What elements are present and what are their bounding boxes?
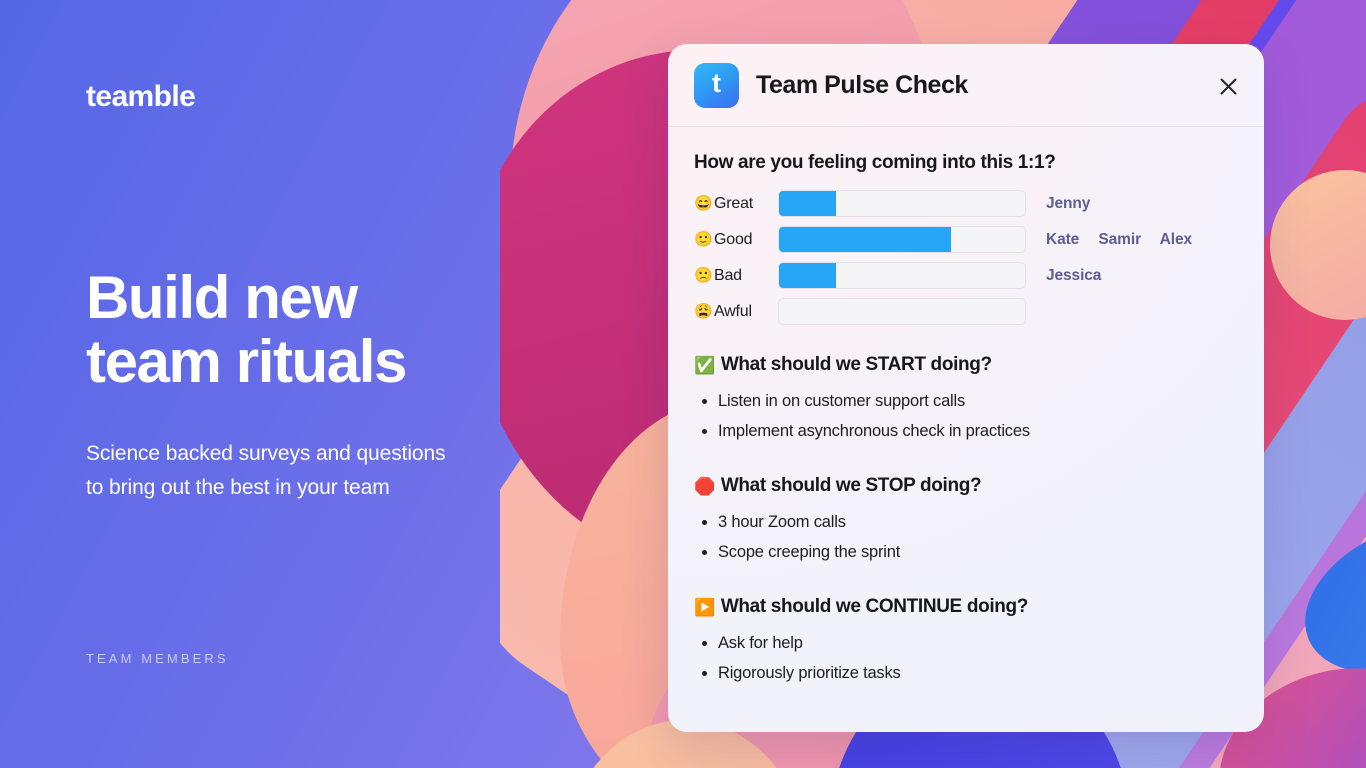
poll-option-label: Awful [714,303,778,321]
section-start: ✅ What should we START doing? Listen in … [694,354,1238,446]
poll-row[interactable]: 🙁 Bad Jessica [694,262,1238,289]
poll-bar-track [778,262,1026,289]
section-list: Listen in on customer support calls Impl… [694,386,1238,446]
page-title: Build new team rituals [86,266,406,394]
poll-voters: Jenny [1046,195,1090,213]
subtitle-line-2: to bring out the best in your team [86,471,445,505]
promo-screen: teamble Build new team rituals Science b… [0,0,1366,768]
list-item: Implement asynchronous check in practice… [694,416,1238,446]
card-body: How are you feeling coming into this 1:1… [668,127,1264,688]
poll-option-label: Bad [714,267,778,285]
section-heading: 🛑 What should we STOP doing? [694,475,1238,497]
poll-row[interactable]: 🙂 Good Kate Samir Alex [694,226,1238,253]
poll-row[interactable]: 😩 Awful [694,298,1238,325]
teamble-app-icon: t [694,63,739,108]
section-heading-text: What should we CONTINUE doing? [721,596,1028,618]
poll-question: How are you feeling coming into this 1:1… [694,152,1238,174]
section-heading-text: What should we START doing? [721,354,992,376]
poll-option-label: Good [714,231,778,249]
slightly-frowning-face-icon: 🙁 [694,268,714,283]
card-title: Team Pulse Check [756,71,968,100]
list-item: 3 hour Zoom calls [694,507,1238,537]
voter-name: Jenny [1046,195,1090,212]
page-subtitle: Science backed surveys and questions to … [86,437,445,505]
poll-bar-track [778,190,1026,217]
section-heading: ▶️ What should we CONTINUE doing? [694,596,1238,618]
team-members-label: TEAM MEMBERS [86,651,229,666]
poll-results: 😄 Great Jenny 🙂 Good [694,190,1238,325]
close-button[interactable] [1215,73,1241,99]
close-icon [1219,77,1238,96]
check-mark-button-icon: ✅ [694,357,715,374]
poll-row[interactable]: 😄 Great Jenny [694,190,1238,217]
subtitle-line-1: Science backed surveys and questions [86,437,445,471]
poll-bar-track [778,298,1026,325]
section-heading: ✅ What should we START doing? [694,354,1238,376]
card-header: t Team Pulse Check [668,44,1264,127]
play-button-icon: ▶️ [694,599,715,616]
poll-voters: Kate Samir Alex [1046,231,1192,249]
grinning-face-with-smiling-eyes-icon: 😄 [694,196,714,211]
team-pulse-check-card: t Team Pulse Check How are you feeling c… [668,44,1264,732]
poll-bar-fill [779,191,836,216]
section-list: 3 hour Zoom calls Scope creeping the spr… [694,507,1238,567]
headline-line-2: team rituals [86,330,406,394]
section-continue: ▶️ What should we CONTINUE doing? Ask fo… [694,596,1238,688]
weary-face-icon: 😩 [694,304,714,319]
voter-name: Alex [1160,231,1192,248]
voter-name: Jessica [1046,267,1101,284]
poll-voters: Jessica [1046,267,1101,285]
headline-line-1: Build new [86,266,406,330]
slightly-smiling-face-icon: 🙂 [694,232,714,247]
list-item: Scope creeping the sprint [694,537,1238,567]
voter-name: Kate [1046,231,1079,248]
poll-bar-fill [779,263,836,288]
list-item: Ask for help [694,628,1238,658]
poll-option-label: Great [714,195,778,213]
section-stop: 🛑 What should we STOP doing? 3 hour Zoom… [694,475,1238,567]
poll-bar-fill [779,227,951,252]
brand-logo: teamble [86,80,195,114]
section-list: Ask for help Rigorously prioritize tasks [694,628,1238,688]
list-item: Listen in on customer support calls [694,386,1238,416]
list-item: Rigorously prioritize tasks [694,658,1238,688]
stop-sign-icon: 🛑 [694,478,715,495]
section-heading-text: What should we STOP doing? [721,475,981,497]
poll-bar-track [778,226,1026,253]
voter-name: Samir [1098,231,1141,248]
